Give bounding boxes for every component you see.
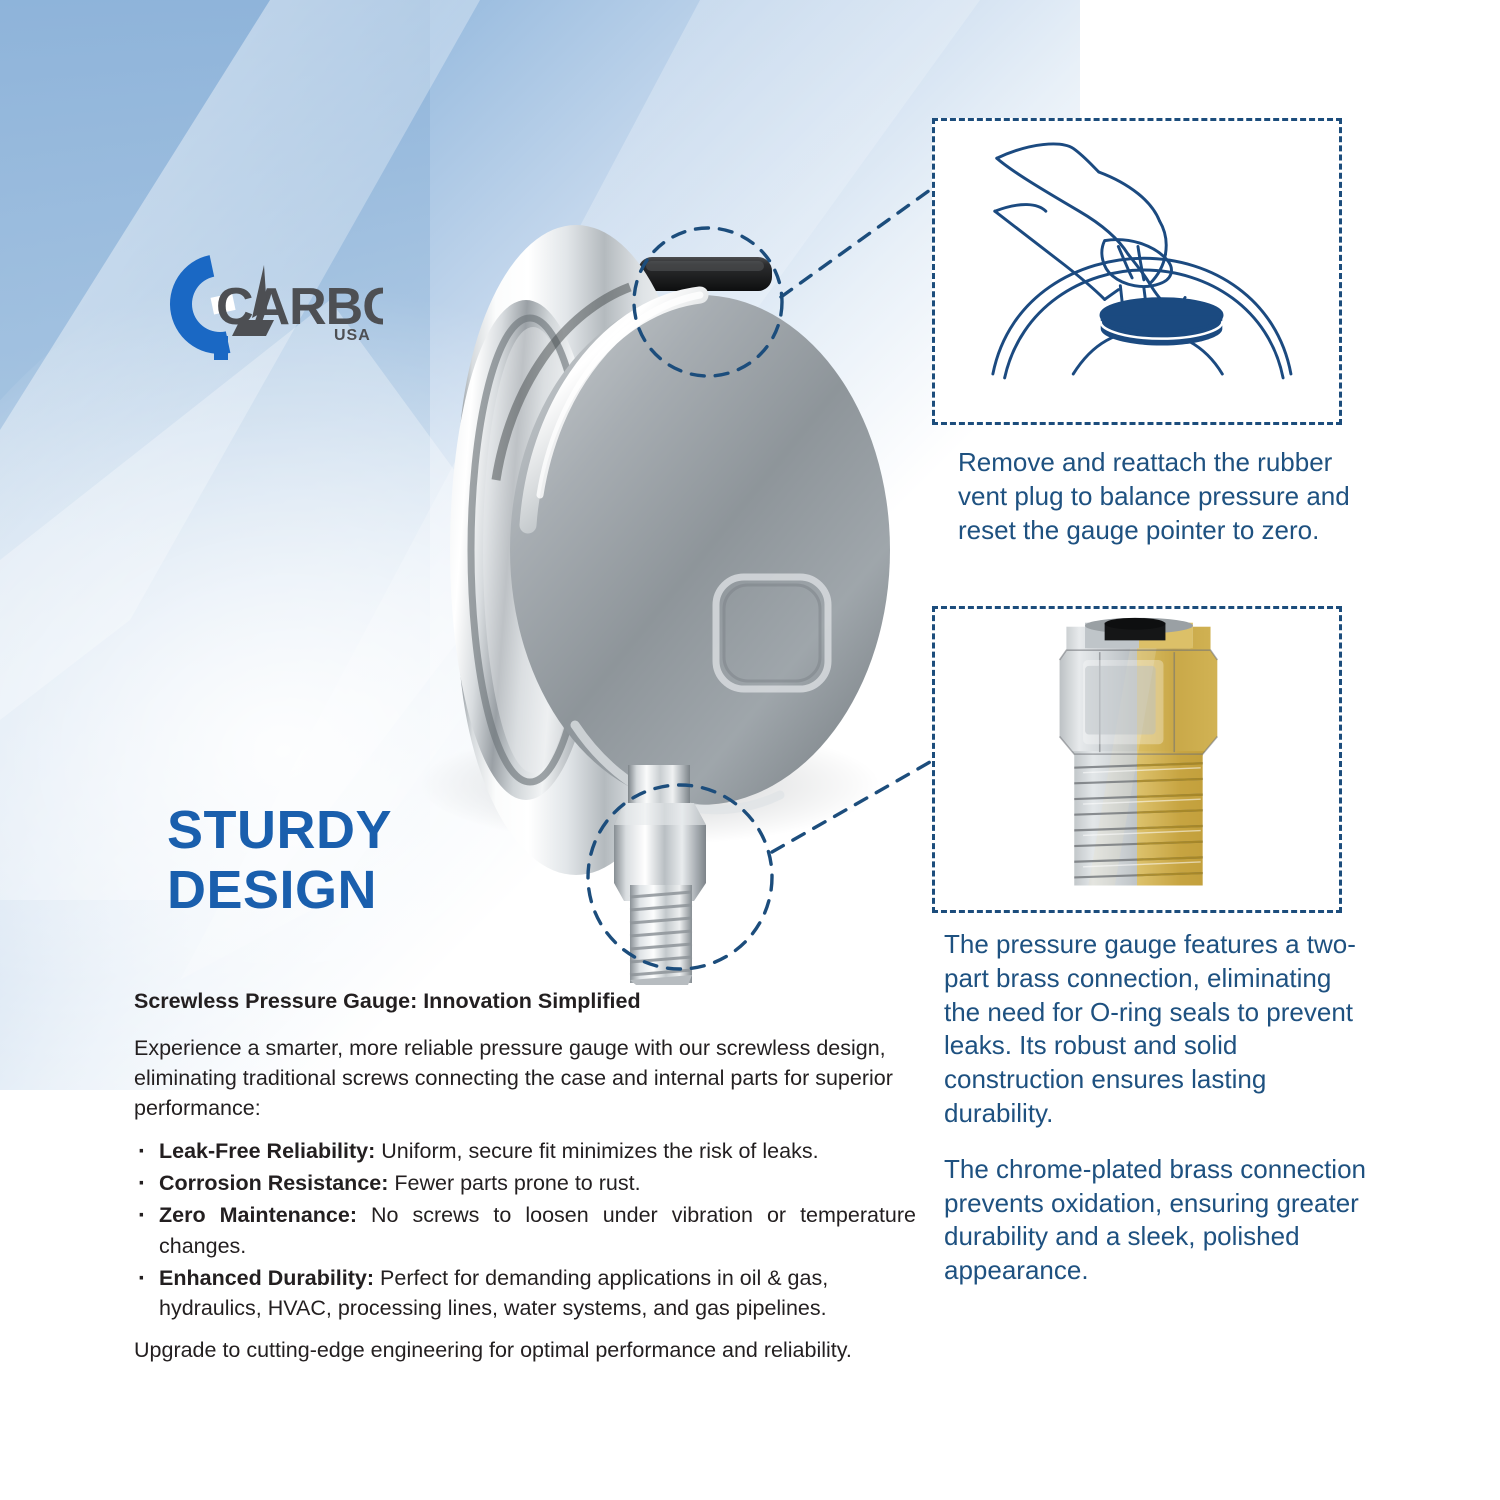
left-subheading: Screwless Pressure Gauge: Innovation Sim… <box>134 988 916 1016</box>
list-item: Enhanced Durability: Perfect for demandi… <box>134 1263 916 1323</box>
hand-removing-vent-plug-illustration <box>935 121 1339 422</box>
bullet-term: Corrosion Resistance: <box>159 1171 388 1195</box>
black-rubber-vent-plug <box>638 257 772 291</box>
headline-line-2: DESIGN <box>167 860 392 920</box>
page-title: STURDY DESIGN <box>167 800 392 921</box>
bullet-term: Enhanced Durability: <box>159 1266 374 1290</box>
list-item: Corrosion Resistance: Fewer parts prone … <box>134 1168 916 1198</box>
left-intro-paragraph: Experience a smarter, more reliable pres… <box>134 1033 916 1123</box>
vent-plug-caption: Remove and reattach the rubber vent plug… <box>958 446 1388 547</box>
headline-line-1: STURDY <box>167 800 392 860</box>
feature-bullet-list: Leak-Free Reliability: Uniform, secure f… <box>134 1136 916 1323</box>
vent-plug-callout-box <box>932 118 1342 425</box>
brass-connection-caption-block: The pressure gauge features a two-part b… <box>944 928 1374 1288</box>
chrome-pressure-gauge-image <box>400 225 890 985</box>
logo-usa-label: USA <box>334 327 371 344</box>
carbo-usa-logo: CARBO USA <box>168 248 383 360</box>
list-item: Zero Maintenance: No screws to loosen un… <box>134 1200 916 1260</box>
brass-caption-3: The chrome-plated brass connection preve… <box>944 1153 1374 1288</box>
bullet-term: Leak-Free Reliability: <box>159 1139 375 1163</box>
bullet-text: Fewer parts prone to rust. <box>388 1171 640 1195</box>
bullet-text: Uniform, secure fit minimizes the risk o… <box>375 1139 818 1163</box>
left-description-block: Screwless Pressure Gauge: Innovation Sim… <box>134 988 916 1365</box>
list-item: Leak-Free Reliability: Uniform, secure f… <box>134 1136 916 1166</box>
bullet-term: Zero Maintenance: <box>159 1203 357 1227</box>
brass-caption-1: The pressure gauge features a two-part b… <box>944 928 1374 1131</box>
left-outro-paragraph: Upgrade to cutting-edge engineering for … <box>134 1335 916 1365</box>
brass-connection-callout-box <box>932 606 1342 913</box>
two-tone-brass-chrome-hex-fitting-photo <box>935 609 1339 910</box>
